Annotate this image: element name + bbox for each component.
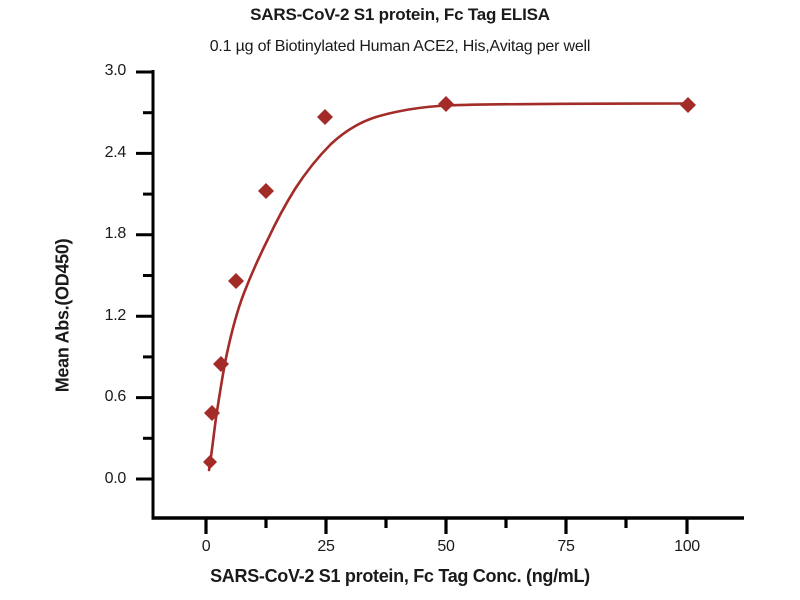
plot-area <box>0 0 800 600</box>
data-point <box>228 273 244 289</box>
x-tick-label: 75 <box>536 538 596 556</box>
y-tick-label: 3.0 <box>72 62 126 80</box>
elisa-binding-chart: SARS-CoV-2 S1 protein, Fc Tag ELISA 0.1 … <box>0 0 800 600</box>
data-point <box>203 455 217 469</box>
x-tick-label: 100 <box>657 538 717 556</box>
fit-curve <box>209 104 687 471</box>
y-tick-label: 1.8 <box>72 225 126 243</box>
data-point <box>438 96 454 112</box>
x-major-ticks <box>206 518 687 534</box>
data-point <box>317 109 333 125</box>
x-tick-label: 0 <box>176 538 236 556</box>
y-tick-label: 0.6 <box>72 388 126 406</box>
data-point <box>258 183 274 199</box>
y-tick-label: 2.4 <box>72 144 126 162</box>
data-point <box>680 97 696 113</box>
y-tick-label: 0.0 <box>72 470 126 488</box>
y-tick-label: 1.2 <box>72 307 126 325</box>
x-tick-label: 50 <box>416 538 476 556</box>
data-point-markers <box>203 96 696 469</box>
x-tick-label: 25 <box>296 538 356 556</box>
